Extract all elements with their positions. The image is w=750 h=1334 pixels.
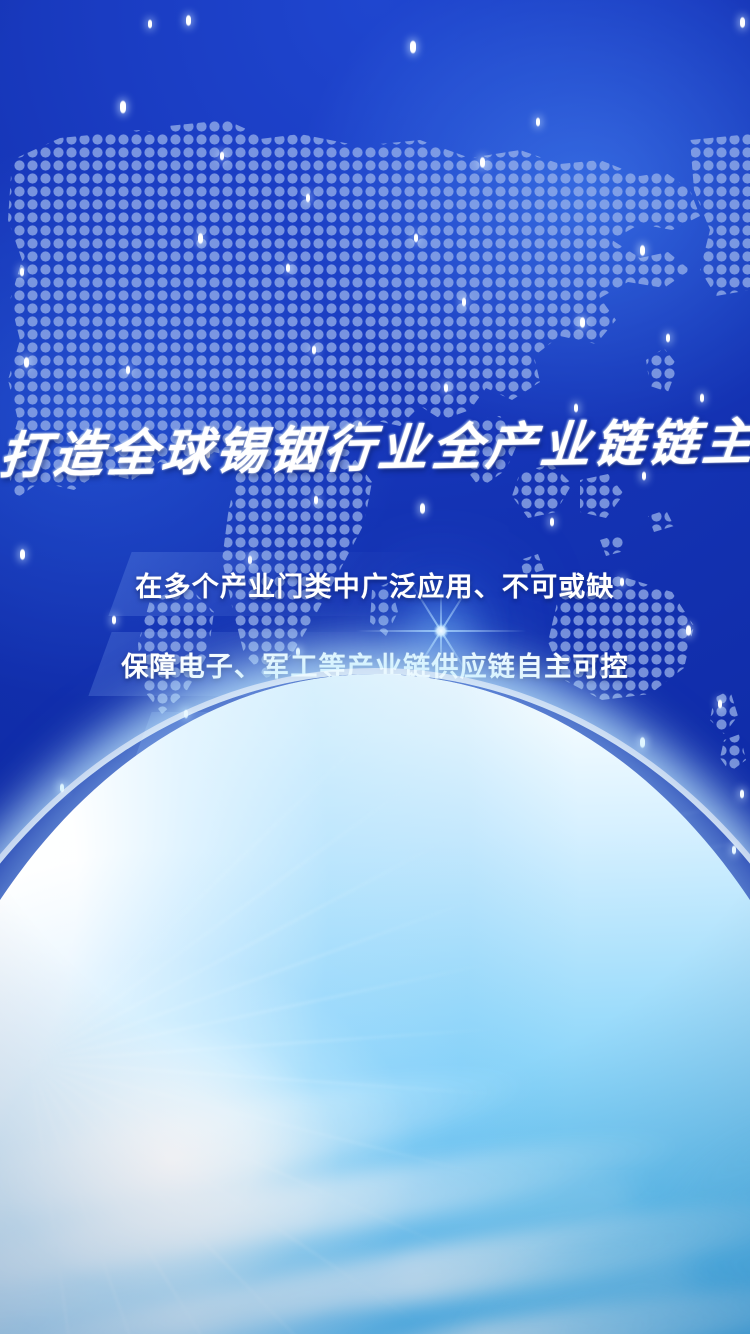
poster-canvas: 打造全球锡铟行业全产业链链主 在多个产业门类中广泛应用、不可或缺 保障电子、军工… bbox=[0, 0, 750, 1334]
subtitle-text-1: 在多个产业门类中广泛应用、不可或缺 bbox=[0, 544, 750, 624]
earth-cloud-texture bbox=[0, 674, 750, 1334]
earth-horizon bbox=[0, 674, 750, 1334]
subtitle-row: 在多个产业门类中广泛应用、不可或缺 bbox=[0, 544, 750, 624]
page-title: 打造全球锡铟行业全产业链链主 bbox=[0, 417, 750, 481]
